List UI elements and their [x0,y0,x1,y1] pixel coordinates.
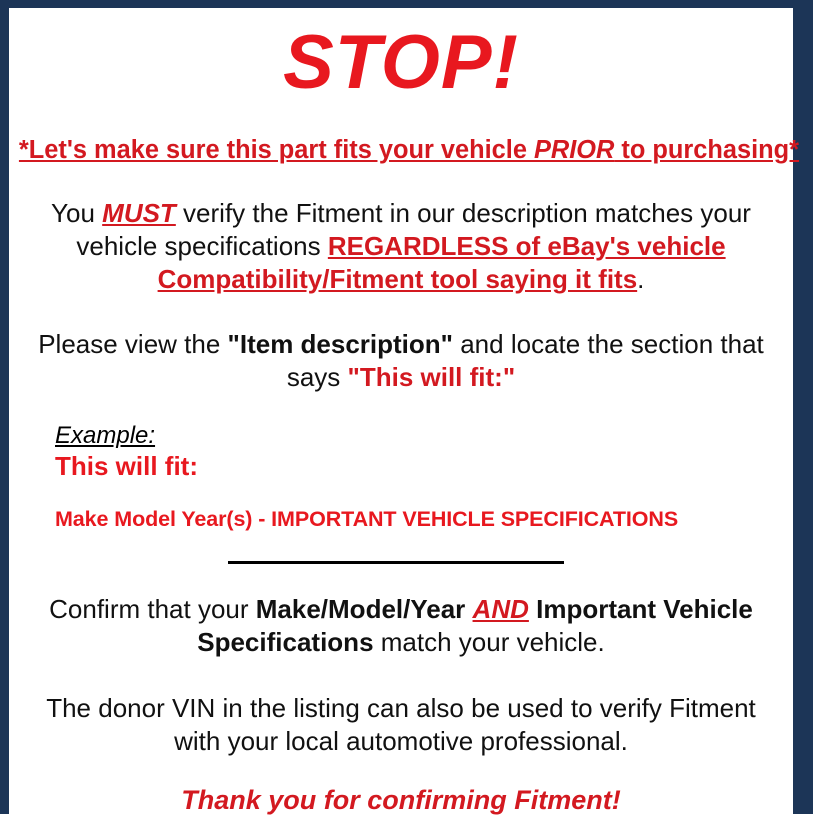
view-text-1: Please view the [38,329,227,359]
make-model-year-label: Make/Model/Year [256,594,466,624]
and-emphasis: AND [473,594,529,624]
paragraph-donor-vin: The donor VIN in the listing can also be… [17,692,785,758]
subtitle-text-after: to purchasing* [614,136,799,164]
confirm-text-2: match your vehicle. [374,627,605,657]
notice-body: STOP! *Let's make sure this part fits yo… [9,25,793,815]
must-text-3: . [637,264,644,294]
paragraph-confirm: Confirm that your Make/Model/Year AND Im… [17,593,785,659]
item-description-label: "Item description" [228,329,453,359]
subtitle-banner: *Let's make sure this part fits your veh… [19,136,783,164]
example-label: Example: [55,422,785,450]
paragraph-item-description: Please view the "Item description" and l… [17,328,785,394]
divider-wrapper [17,561,785,565]
horizontal-rule-divider [228,561,564,564]
example-spec-line: Make Model Year(s) - IMPORTANT VEHICLE S… [55,507,785,533]
example-fit-heading: This will fit: [55,451,785,482]
must-text-1: You [51,198,102,228]
this-will-fit-quote: "This will fit:" [348,362,516,392]
closing-thank-you: Thank you for confirming Fitment! [17,784,785,816]
confirm-text-1: Confirm that your [49,594,256,624]
confirm-space-1 [465,594,472,624]
subtitle-text-before: *Let's make sure this part fits your veh… [19,136,534,164]
subtitle-emphasis-prior: PRIOR [534,136,614,164]
paragraph-must-verify: You MUST verify the Fitment in our descr… [17,197,785,296]
page-title: STOP! [17,25,785,101]
must-emphasis: MUST [102,198,176,228]
example-block: Example: This will fit: Make Model Year(… [17,422,785,533]
fitment-notice-card: STOP! *Let's make sure this part fits yo… [0,0,813,814]
